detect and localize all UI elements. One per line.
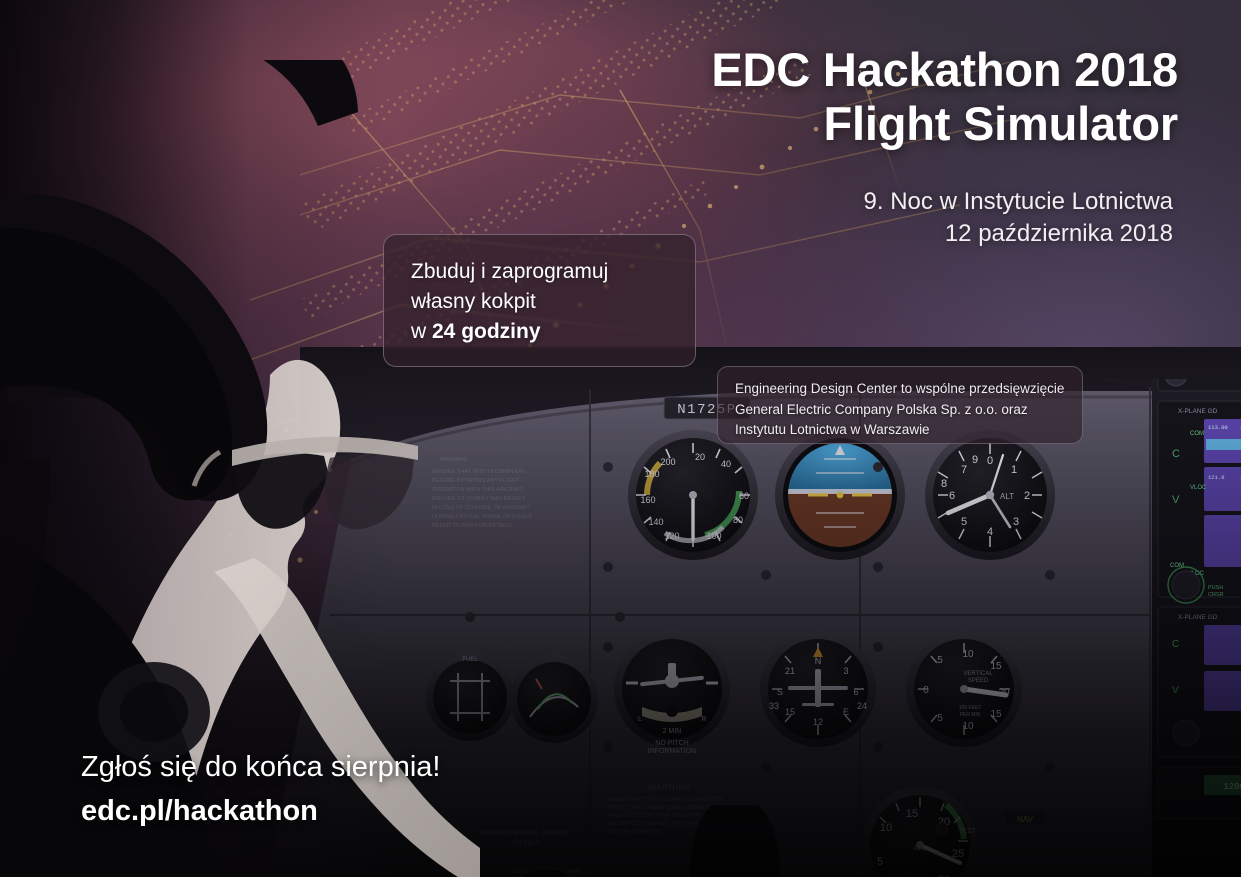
cap [70, 60, 358, 126]
shoulder-strap [214, 558, 480, 877]
subtitle-line-2: 12 października 2018 [864, 218, 1173, 250]
cta-deadline-text: Zgłoś się do końca sierpnia! [81, 750, 440, 785]
callout-line-3-bold: 24 godziny [432, 320, 541, 343]
poster-root: N1725P MANEUVERING SPEED 115 MILE WARNIN… [0, 0, 1241, 877]
title-line-1: EDC Hackathon 2018 [711, 43, 1178, 97]
info-line-1: Engineering Design Center to wspólne prz… [735, 379, 1072, 400]
title-block: EDC Hackathon 2018 Flight Simulator [711, 43, 1178, 150]
call-to-action: Zgłoś się do końca sierpnia! edc.pl/hack… [81, 750, 440, 829]
info-line-2: General Electric Company Polska Sp. z o.… [735, 400, 1072, 421]
title-line-2: Flight Simulator [711, 97, 1178, 151]
info-line-3: Instytutu Lotnictwa w Warszawie [735, 420, 1072, 441]
callout-line-1: Zbuduj i zaprogramuj [411, 257, 679, 287]
info-text-group: Engineering Design Center to wspólne prz… [735, 379, 1072, 441]
callout-line-3-prefix: w [411, 320, 432, 343]
callout-line-3: w 24 godziny [411, 317, 679, 347]
subtitle-block: 9. Noc w Instytucie Lotnictwa 12 paździe… [864, 186, 1173, 249]
callout-text-group: Zbuduj i zaprogramuj własny kokpit w 24 … [411, 257, 679, 348]
callout-line-2: własny kokpit [411, 287, 679, 317]
subtitle-line-1: 9. Noc w Instytucie Lotnictwa [864, 186, 1173, 218]
cta-url[interactable]: edc.pl/hackathon [81, 793, 440, 829]
callout-box: Zbuduj i zaprogramuj własny kokpit w 24 … [383, 234, 696, 367]
info-box: Engineering Design Center to wspólne prz… [717, 366, 1083, 444]
